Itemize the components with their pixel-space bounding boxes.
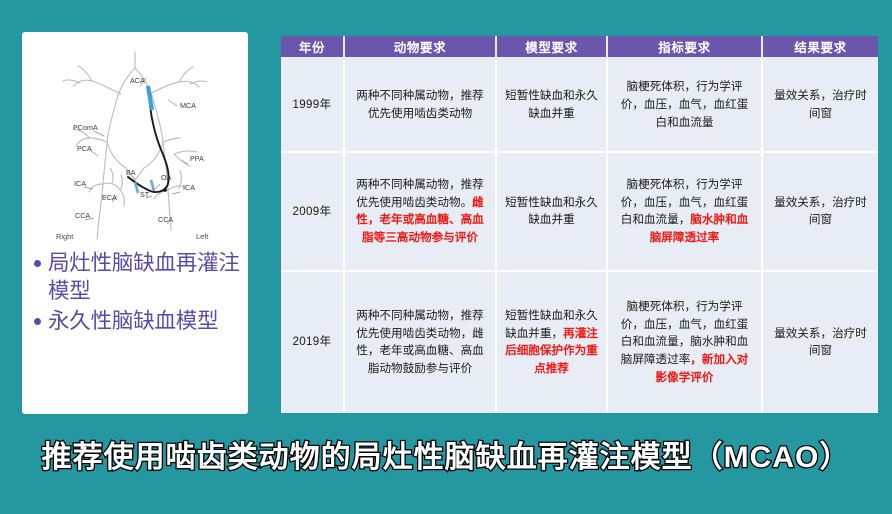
cell-model-requirement: 短暂性缺血和永久缺血并重，再灌注后细胞保护作为重点推荐	[497, 272, 608, 413]
text-standard: 两种不同种属动物，推荐优先使用啮齿类动物	[356, 89, 484, 120]
list-item: 局灶性脑缺血再灌注模型	[32, 250, 244, 306]
diagram-label-mca: MCA	[180, 101, 196, 110]
diagram-label-pca: PCA	[77, 144, 92, 153]
column-header-index: 指标要求	[608, 36, 763, 59]
cell-model-requirement: 短暂性缺血和永久缺血并重	[497, 59, 608, 153]
slide-canvas: ACAMCAPComAPCAPPABAOAICAICASTECACCACCA R…	[0, 0, 892, 514]
diagram-label-cca: CCA	[75, 211, 90, 220]
cell-index-requirement: 脑梗死体积，行为学评价，血压，血气，血红蛋白和血流量	[608, 59, 763, 153]
cerebral-artery-diagram: ACAMCAPComAPCAPPABAOAICAICASTECACCACCA R…	[22, 34, 248, 246]
cell-year: 2009年	[281, 153, 345, 272]
cell-model-requirement: 短暂性缺血和永久缺血并重	[497, 153, 608, 272]
text-standard: 脑梗死体积，行为学评价，血压，血气，血红蛋白和血流量	[621, 80, 749, 129]
table-header-row: 年份 动物要求 模型要求 指标要求 结果要求	[281, 36, 878, 59]
cell-index-requirement: 脑梗死体积，行为学评价，血压，血气，血红蛋白和血流量，脑水肿和血脑屏障透过率，新…	[608, 272, 763, 413]
cell-animal-requirement: 两种不同种属动物，推荐优先使用啮齿类动物，雌性，老年或高血糖、高血脂动物鼓励参与…	[345, 272, 497, 413]
bullet-dot-icon	[34, 318, 41, 325]
text-standard: 两种不同种属动物，推荐优先使用啮齿类动物。	[356, 178, 484, 209]
text-standard: 短暂性缺血和永久缺血并重	[505, 89, 598, 120]
slide-caption: 推荐使用啮齿类动物的局灶性脑缺血再灌注模型（MCAO）	[0, 432, 892, 476]
text-standard: 短暂性缺血和永久缺血并重	[505, 196, 598, 227]
cell-animal-requirement: 两种不同种属动物，推荐优先使用啮齿类动物。雌性，老年或高血糖、高血脂等三高动物参…	[345, 153, 497, 272]
caption-band: 推荐使用啮齿类动物的局灶性脑缺血再灌注模型（MCAO）	[0, 418, 892, 514]
column-header-animal: 动物要求	[345, 36, 497, 59]
cell-result-requirement: 量效关系，治疗时间窗	[763, 272, 878, 413]
table-row: 2019年两种不同种属动物，推荐优先使用啮齿类动物，雌性，老年或高血糖、高血脂动…	[281, 272, 878, 413]
diagram-side-label-right: Right	[56, 232, 73, 241]
diagram-side-label-left: Left	[196, 232, 208, 241]
diagram-label-ica: ICA	[183, 183, 195, 192]
diagram-container: ACAMCAPComAPCAPPABAOAICAICASTECACCACCA R…	[22, 34, 248, 246]
column-header-result: 结果要求	[763, 36, 878, 59]
diagram-label-ppa: PPA	[190, 154, 204, 163]
bullet-label: 局灶性脑缺血再灌注模型	[48, 250, 244, 306]
table-row: 1999年两种不同种属动物，推荐优先使用啮齿类动物短暂性缺血和永久缺血并重脑梗死…	[281, 59, 878, 153]
cell-result-requirement: 量效关系，治疗时间窗	[763, 59, 878, 153]
requirements-table: 年份 动物要求 模型要求 指标要求 结果要求 1999年两种不同种属动物，推荐优…	[281, 36, 878, 413]
cell-result-requirement: 量效关系，治疗时间窗	[763, 153, 878, 272]
diagram-label-cca: CCA	[158, 215, 173, 224]
model-bullet-list: 局灶性脑缺血再灌注模型 永久性脑缺血模型	[32, 250, 244, 338]
cell-index-requirement: 脑梗死体积，行为学评价，血压，血气，血红蛋白和血流量，脑水肿和血脑屏障透过率	[608, 153, 763, 272]
diagram-label-oa: OA	[161, 173, 172, 182]
left-illustration-card: ACAMCAPComAPCAPPABAOAICAICASTECACCACCA R…	[22, 32, 248, 414]
table-row: 2009年两种不同种属动物，推荐优先使用啮齿类动物。雌性，老年或高血糖、高血脂等…	[281, 153, 878, 272]
diagram-label-ba: BA	[126, 168, 136, 177]
cell-year: 2019年	[281, 272, 345, 413]
diagram-label-ica: ICA	[74, 179, 86, 188]
column-header-year: 年份	[281, 36, 345, 59]
text-standard: 两种不同种属动物，推荐优先使用啮齿类动物，雌性，老年或高血糖、高血脂动物鼓励参与…	[356, 309, 484, 376]
bullet-label: 永久性脑缺血模型	[48, 308, 244, 336]
diagram-label-pcoma: PComA	[73, 123, 98, 132]
bullet-dot-icon	[34, 260, 41, 267]
diagram-label-eca: ECA	[102, 193, 117, 202]
diagram-label-aca: ACA	[130, 76, 145, 85]
diagram-label-st: ST	[140, 190, 150, 199]
list-item: 永久性脑缺血模型	[32, 308, 244, 336]
cell-year: 1999年	[281, 59, 345, 153]
cell-animal-requirement: 两种不同种属动物，推荐优先使用啮齿类动物	[345, 59, 497, 153]
column-header-model: 模型要求	[497, 36, 608, 59]
